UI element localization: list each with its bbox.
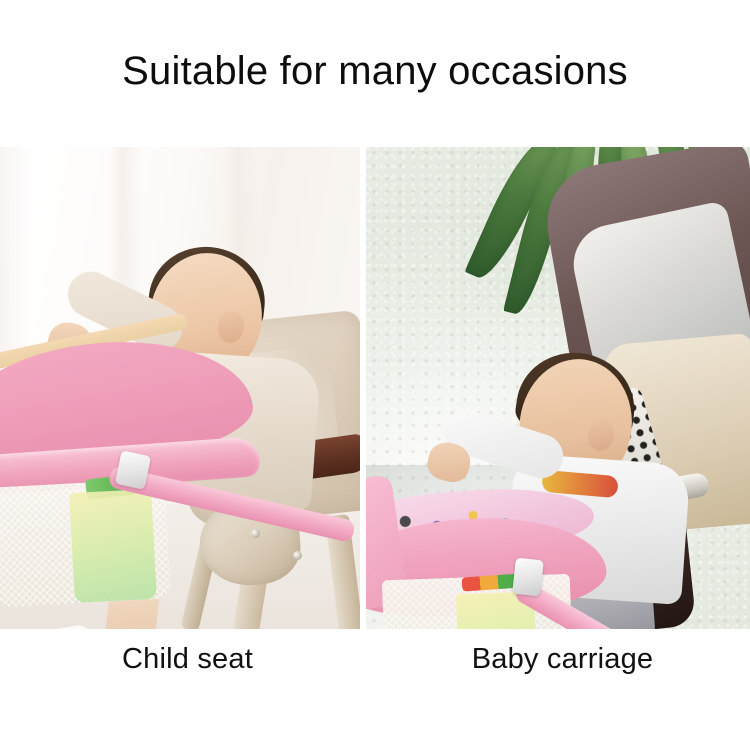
strap-buckle xyxy=(512,558,544,597)
pocket-towel xyxy=(69,489,157,603)
photo-baby-carriage xyxy=(366,147,750,629)
page-title: Suitable for many occasions xyxy=(0,47,750,95)
product-marketing-image: Suitable for many occasions xyxy=(0,0,750,750)
caption-child-seat: Child seat xyxy=(0,636,375,696)
caption-row: Child seat Baby carriage xyxy=(0,636,750,696)
hinge-bolt xyxy=(293,551,302,560)
photo-band xyxy=(0,147,750,629)
caption-baby-carriage: Baby carriage xyxy=(375,636,750,696)
hinge-bolt xyxy=(251,529,260,538)
photo-child-seat xyxy=(0,147,360,629)
